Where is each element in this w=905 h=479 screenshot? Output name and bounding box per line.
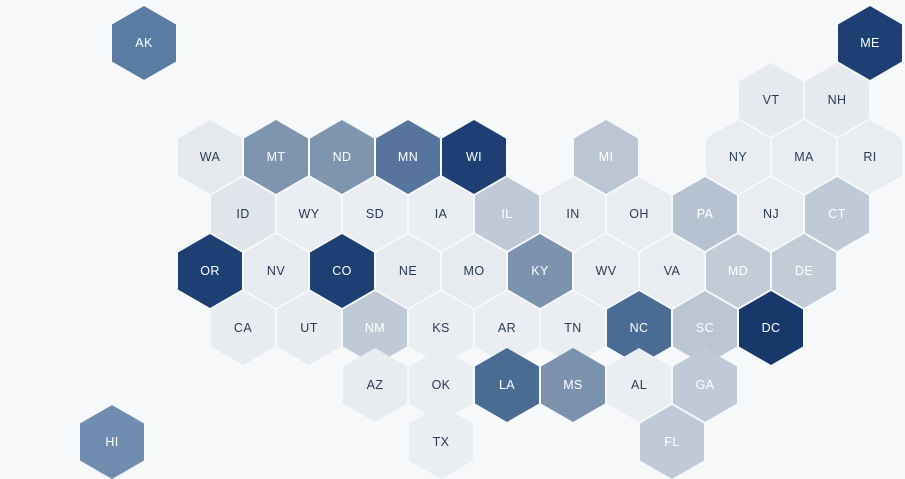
hex-state-wa[interactable]: WA [178, 120, 242, 194]
hex-state-label: AL [631, 379, 647, 392]
hex-state-label: GA [696, 379, 715, 392]
hex-state-label: NV [267, 265, 285, 278]
hex-state-wi[interactable]: WI [442, 120, 506, 194]
hex-state-ct[interactable]: CT [805, 177, 869, 251]
hex-state-label: LA [499, 379, 515, 392]
hex-state-sd[interactable]: SD [343, 177, 407, 251]
hex-state-wv[interactable]: WV [574, 234, 638, 308]
hex-state-ut[interactable]: UT [277, 291, 341, 365]
hex-state-ny[interactable]: NY [706, 120, 770, 194]
hex-state-label: WV [596, 265, 617, 278]
hex-state-wy[interactable]: WY [277, 177, 341, 251]
hex-state-label: KY [531, 265, 548, 278]
hex-state-nh[interactable]: NH [805, 63, 869, 137]
hex-state-mo[interactable]: MO [442, 234, 506, 308]
hex-state-nv[interactable]: NV [244, 234, 308, 308]
hex-state-oh[interactable]: OH [607, 177, 671, 251]
hex-state-la[interactable]: LA [475, 348, 539, 422]
hex-state-label: PA [697, 208, 714, 221]
hex-state-label: IA [435, 208, 448, 221]
hex-state-hi[interactable]: HI [80, 405, 144, 479]
hex-state-label: MD [728, 265, 748, 278]
hex-state-label: OK [432, 379, 451, 392]
hex-state-fl[interactable]: FL [640, 405, 704, 479]
hex-state-label: UT [300, 322, 317, 335]
hex-state-label: RI [863, 151, 876, 164]
hex-state-me[interactable]: ME [838, 6, 902, 80]
hex-state-label: WY [299, 208, 320, 221]
hex-state-az[interactable]: AZ [343, 348, 407, 422]
hex-state-label: NJ [763, 208, 779, 221]
hex-state-label: NH [828, 94, 847, 107]
hex-state-label: KS [432, 322, 449, 335]
hex-state-al[interactable]: AL [607, 348, 671, 422]
hex-state-label: IN [566, 208, 579, 221]
hex-state-ri[interactable]: RI [838, 120, 902, 194]
hex-state-label: OH [629, 208, 649, 221]
hex-state-ak[interactable]: AK [112, 6, 176, 80]
hex-state-va[interactable]: VA [640, 234, 704, 308]
hex-state-label: FL [664, 436, 679, 449]
hex-state-label: AZ [367, 379, 384, 392]
hex-state-ca[interactable]: CA [211, 291, 275, 365]
hex-state-label: CO [332, 265, 352, 278]
hex-state-label: ME [860, 37, 880, 50]
hex-state-label: VT [763, 94, 780, 107]
hex-state-label: NM [365, 322, 385, 335]
us-hex-cartogram: AKMEVTNHWAMTNDMNWIMINYMARIIDWYSDIAILINOH… [0, 0, 905, 462]
hex-state-ky[interactable]: KY [508, 234, 572, 308]
hex-state-ga[interactable]: GA [673, 348, 737, 422]
hex-state-label: IL [501, 208, 512, 221]
hex-state-label: NY [729, 151, 747, 164]
hex-state-label: MO [464, 265, 485, 278]
hex-state-label: MI [599, 151, 614, 164]
hex-state-label: SD [366, 208, 384, 221]
hex-state-vt[interactable]: VT [739, 63, 803, 137]
hex-state-md[interactable]: MD [706, 234, 770, 308]
hex-state-label: AK [135, 37, 152, 50]
hex-state-label: HI [105, 436, 118, 449]
hex-state-label: NE [399, 265, 417, 278]
hex-state-label: DC [762, 322, 781, 335]
hex-state-label: MN [398, 151, 418, 164]
hex-state-mi[interactable]: MI [574, 120, 638, 194]
hex-state-label: TX [433, 436, 450, 449]
hex-state-id[interactable]: ID [211, 177, 275, 251]
hex-state-label: CT [828, 208, 845, 221]
hex-state-label: MT [267, 151, 286, 164]
hex-state-de[interactable]: DE [772, 234, 836, 308]
hex-state-ia[interactable]: IA [409, 177, 473, 251]
hex-state-label: AR [498, 322, 516, 335]
hex-state-tx[interactable]: TX [409, 405, 473, 479]
hex-state-label: CA [234, 322, 252, 335]
hex-state-mt[interactable]: MT [244, 120, 308, 194]
hex-state-label: SC [696, 322, 714, 335]
hex-state-label: WA [200, 151, 220, 164]
hex-state-nj[interactable]: NJ [739, 177, 803, 251]
hex-state-co[interactable]: CO [310, 234, 374, 308]
hex-state-il[interactable]: IL [475, 177, 539, 251]
hex-state-label: ID [236, 208, 249, 221]
hex-state-dc[interactable]: DC [739, 291, 803, 365]
hex-state-or[interactable]: OR [178, 234, 242, 308]
hex-state-ms[interactable]: MS [541, 348, 605, 422]
hex-state-ma[interactable]: MA [772, 120, 836, 194]
hex-state-mn[interactable]: MN [376, 120, 440, 194]
hex-state-label: OR [200, 265, 220, 278]
hex-state-label: TN [564, 322, 581, 335]
hex-state-ne[interactable]: NE [376, 234, 440, 308]
hex-state-label: MA [794, 151, 814, 164]
hex-state-label: ND [333, 151, 352, 164]
hex-state-in[interactable]: IN [541, 177, 605, 251]
hex-state-label: WI [466, 151, 482, 164]
hex-state-nd[interactable]: ND [310, 120, 374, 194]
hex-state-label: DE [795, 265, 813, 278]
hex-state-label: NC [630, 322, 649, 335]
hex-state-label: VA [664, 265, 681, 278]
hex-state-pa[interactable]: PA [673, 177, 737, 251]
hex-state-label: MS [563, 379, 583, 392]
